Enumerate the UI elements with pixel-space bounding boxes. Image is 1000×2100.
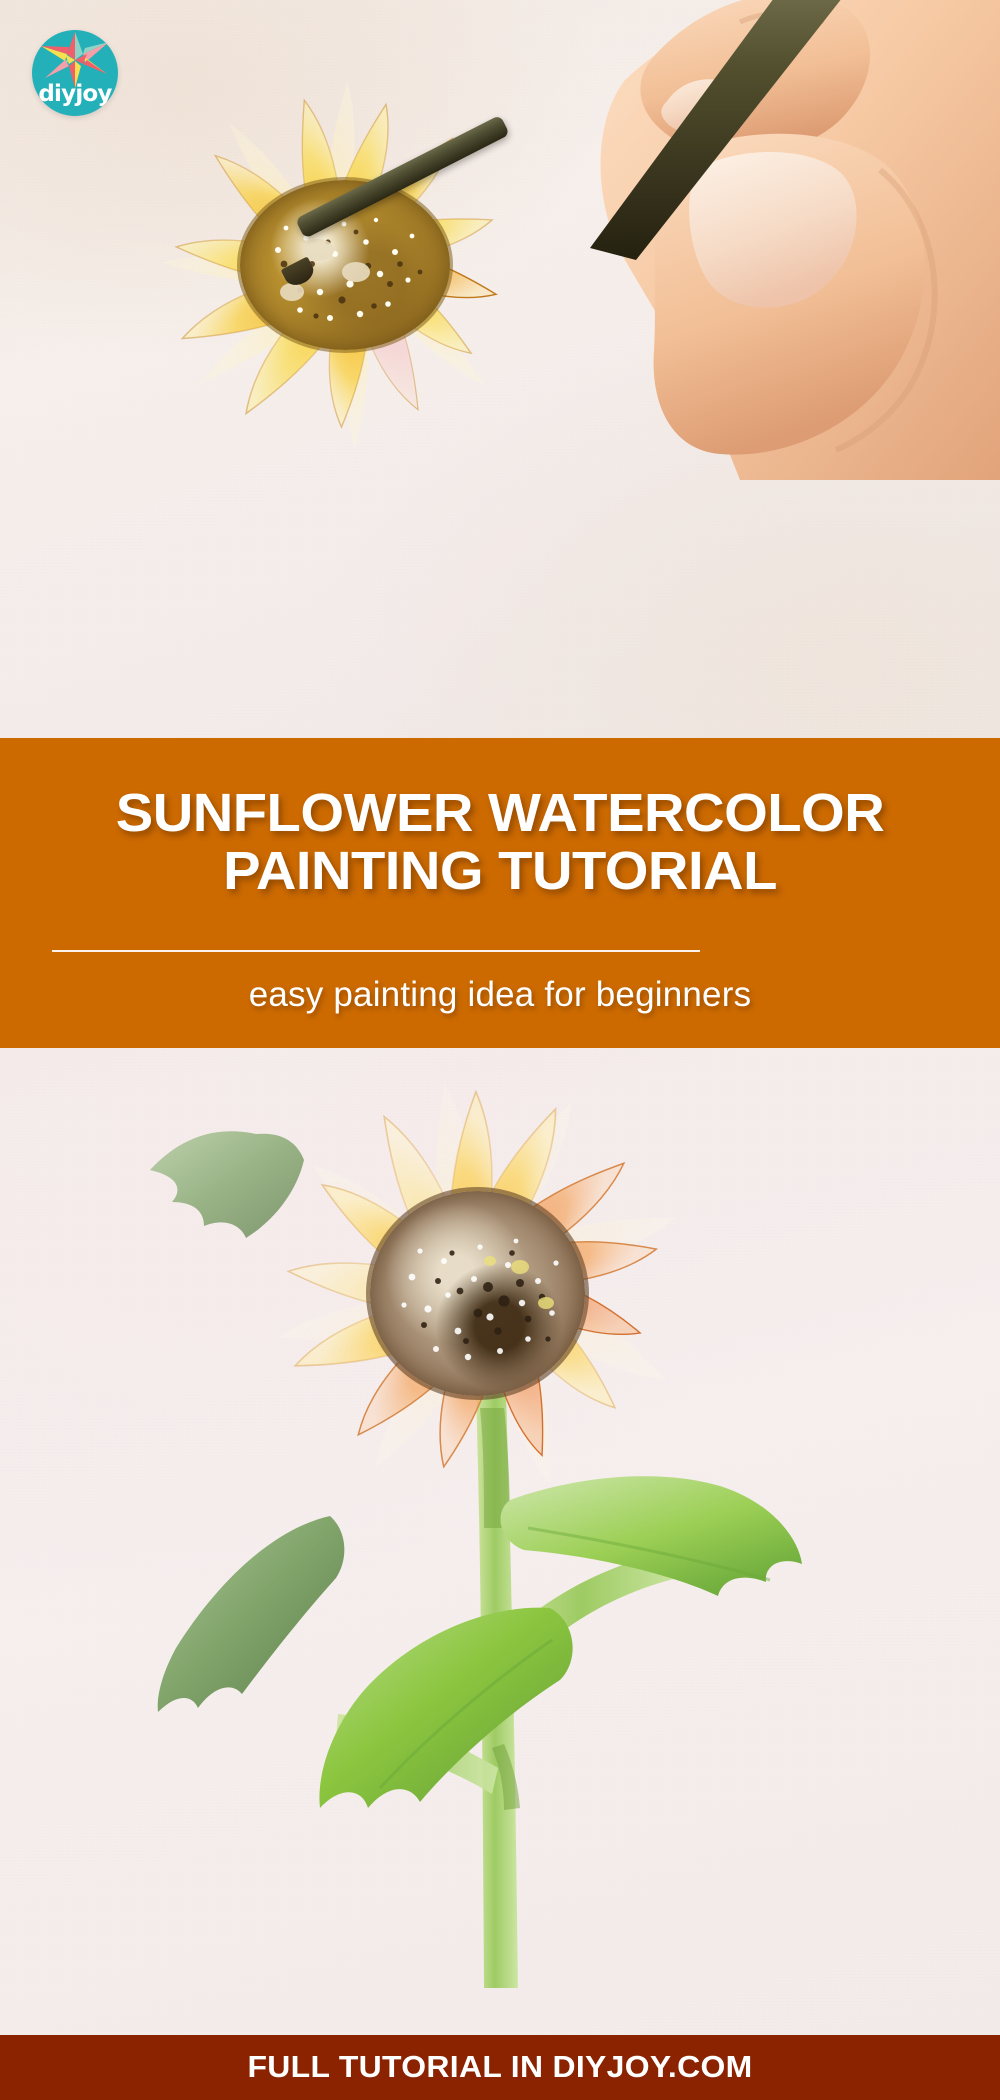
banner-title-line-2: PAINTING TUTORIAL [0, 844, 1000, 898]
sunflower-plant-svg [80, 1048, 920, 1988]
footer-cta-text: FULL TUTORIAL IN DIYJOY.COM [0, 2049, 1000, 2085]
photo-top-process-shot [0, 0, 1000, 738]
sunflower-center-disc-finished [370, 1191, 585, 1396]
banner-subtitle: easy painting idea for beginners [0, 975, 1000, 1015]
pinterest-pin: diyjoy SUNFLOWER WATERCOLOR PAINTING TUT… [0, 0, 1000, 2100]
title-banner: SUNFLOWER WATERCOLOR PAINTING TUTORIAL e… [0, 738, 1000, 1048]
hand-holding-brush [410, 0, 1000, 480]
banner-divider [52, 950, 700, 952]
seed-texture-svg [370, 1191, 585, 1396]
photo-bottom-finished-painting [0, 1048, 1000, 2035]
finished-sunflower-painting [80, 1048, 920, 1988]
footer-cta-bar[interactable]: FULL TUTORIAL IN DIYJOY.COM [0, 2035, 1000, 2100]
diyjoy-logo[interactable]: diyjoy [32, 30, 118, 116]
banner-title-line-1: SUNFLOWER WATERCOLOR [0, 786, 1000, 840]
hand-svg [410, 0, 1000, 480]
logo-wordmark: diyjoy [32, 81, 118, 107]
